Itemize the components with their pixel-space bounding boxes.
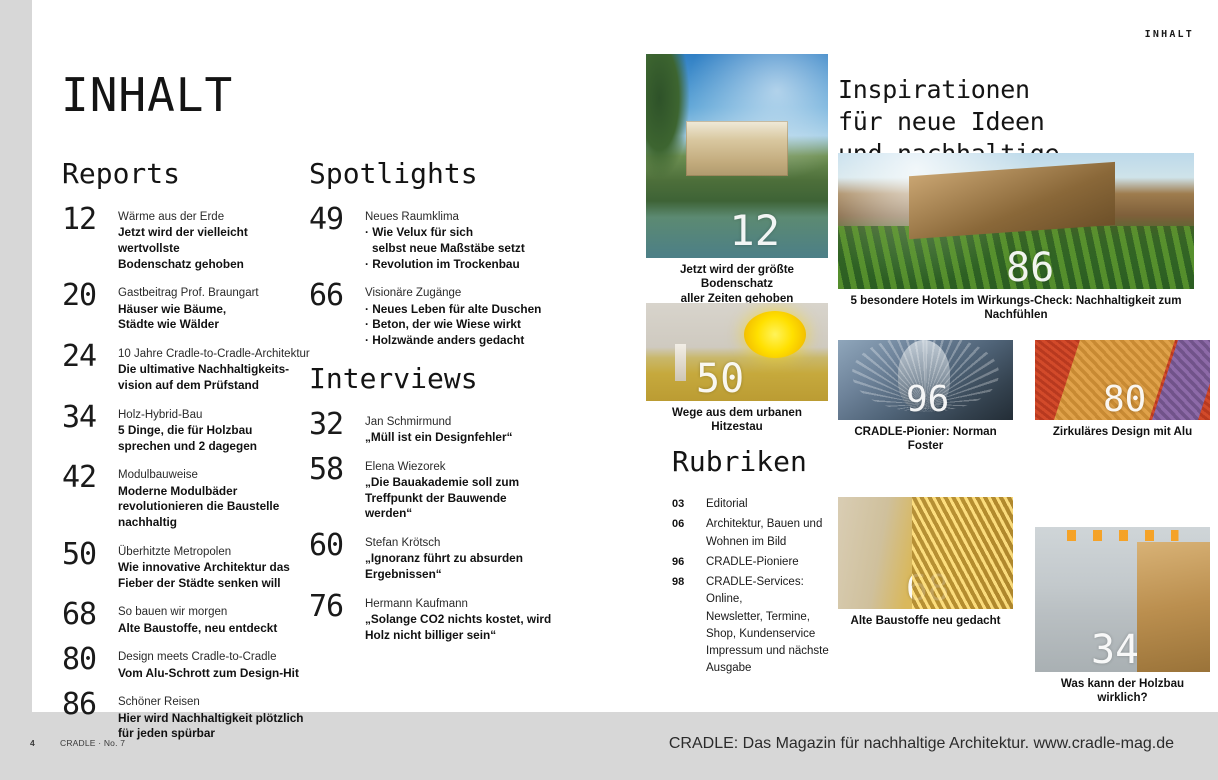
entry-text: Gastbeitrag Prof. BraungartHäuser wie Bä… [118, 286, 312, 333]
spotlights-list: 49Neues Raumklima· Wie Velux für sichsel… [309, 210, 559, 349]
entry-kicker: Neues Raumklima [365, 210, 559, 225]
entry-title-line: „Die Bauakademie soll zum [365, 475, 559, 491]
straw-and-clay-material-photo: 68 [838, 497, 1013, 609]
hero-line: für neue Ideen [838, 106, 1208, 138]
entry-page-number: 49 [309, 206, 365, 235]
reports-list: 12Wärme aus der ErdeJetzt wird der viell… [62, 210, 312, 742]
entry-title: Die ultimative Nachhaltigkeits-vision au… [118, 362, 312, 393]
entry-title-line: Die ultimative Nachhaltigkeits- [118, 362, 312, 378]
entry-title: 5 Dinge, die für Holzbausprechen und 2 d… [118, 423, 312, 454]
entry-page-number: 50 [62, 541, 118, 570]
entry-title-line: für jeden spürbar [118, 726, 312, 742]
entry-title-line: Bodenschatz gehoben [118, 257, 312, 273]
entry-title-line: Holz nicht billiger sein“ [365, 628, 559, 644]
figure-caption: CRADLE-Pionier: Norman Foster [838, 425, 1013, 454]
entry-page-number: 12 [62, 206, 118, 235]
entry-title-line: Hier wird Nachhaltigkeit plötzlich [118, 711, 312, 727]
figure-80[interactable]: 80 Zirkuläres Design mit Alu [1035, 340, 1210, 439]
rubriken-label: CRADLE-Services: Online,Newsletter, Term… [706, 574, 842, 678]
entry-title: Hier wird Nachhaltigkeit plötzlichfür je… [118, 711, 312, 742]
reports-entry[interactable]: 34Holz-Hybrid-Bau5 Dinge, die für Holzba… [62, 408, 312, 455]
rubriken-entry[interactable]: 06Architektur, Bauen undWohnen im Bild [672, 516, 842, 551]
running-head: INHALT [1145, 29, 1194, 40]
entry-page-number: 58 [309, 456, 365, 485]
rubriken-label: Architektur, Bauen undWohnen im Bild [706, 516, 822, 551]
entry-page-number: 66 [309, 282, 365, 311]
colored-aluminium-pattern-photo: 80 [1035, 340, 1210, 420]
figure-pagenum: 96 [906, 382, 949, 418]
entry-title: Häuser wie Bäume,Städte wie Wälder [118, 302, 312, 333]
entry-title-line: nachhaltig [118, 515, 312, 531]
entry-title: Moderne Modulbäderrevolutionieren die Ba… [118, 484, 312, 531]
entry-text: Wärme aus der ErdeJetzt wird der viellei… [118, 210, 312, 272]
rubriken-entry[interactable]: 03Editorial [672, 496, 842, 513]
entry-text: Überhitzte MetropolenWie innovative Arch… [118, 545, 312, 592]
reichstag-glass-dome-photo: 96 [838, 340, 1013, 420]
interviews-entry[interactable]: 76Hermann Kaufmann„Solange CO2 nichts ko… [309, 597, 559, 644]
entry-title-line: · Revolution im Trockenbau [365, 257, 559, 273]
hero-line: Inspirationen [838, 74, 1208, 106]
figure-caption: Alte Baustoffe neu gedacht [838, 614, 1013, 628]
entry-title-line: Städte wie Wälder [118, 317, 312, 333]
figure-caption: 5 besondere Hotels im Wirkungs-Check: Na… [838, 294, 1194, 323]
entry-kicker: So bauen wir morgen [118, 605, 312, 620]
figure-caption: Was kann der Holzbau wirklich? [1035, 677, 1210, 706]
spotlights-column: Spotlights 49Neues Raumklima· Wie Velux … [309, 160, 559, 657]
entry-title: Wie innovative Architektur dasFieber der… [118, 560, 312, 591]
timber-hall-interior-photo: 34 [1035, 527, 1210, 672]
entry-page-number: 76 [309, 593, 365, 622]
entry-text: Visionäre Zugänge· Neues Leben für alte … [365, 286, 559, 348]
entry-title-line: · Neues Leben für alte Duschen [365, 302, 559, 318]
figure-pagenum: 68 [906, 571, 949, 607]
entry-kicker: Holz-Hybrid-Bau [118, 408, 312, 423]
entry-page-number: 24 [62, 343, 118, 372]
entry-text: Stefan Krötsch„Ignoranz führt zu absurde… [365, 536, 559, 583]
section-heading-interviews: Interviews [309, 365, 559, 393]
entry-title: · Wie Velux für sichselbst neue Maßstäbe… [365, 225, 559, 272]
entry-title-line: werden“ [365, 506, 559, 522]
entry-kicker: Überhitzte Metropolen [118, 545, 312, 560]
entry-title-line: Fieber der Städte senken will [118, 576, 312, 592]
rubriken-page-number: 03 [672, 496, 706, 513]
entry-title-line: Treffpunkt der Bauwende [365, 491, 559, 507]
figure-50[interactable]: 50 Wege aus dem urbanen Hitzestau [646, 303, 828, 435]
entry-page-number: 34 [62, 404, 118, 433]
entry-title-line: Vom Alu-Schrott zum Design-Hit [118, 666, 312, 682]
interviews-entry[interactable]: 58Elena Wiezorek„Die Bauakademie soll zu… [309, 460, 559, 522]
entry-title: Jetzt wird der vielleicht wertvollsteBod… [118, 225, 312, 272]
entry-text: Jan Schmirmund„Müll ist ein Designfehler… [365, 415, 559, 446]
entry-page-number: 42 [62, 464, 118, 493]
entry-page-number: 20 [62, 282, 118, 311]
interviews-entry[interactable]: 60Stefan Krötsch„Ignoranz führt zu absur… [309, 536, 559, 583]
reports-entry[interactable]: 2410 Jahre Cradle-to-Cradle-ArchitekturD… [62, 347, 312, 394]
interviews-entry[interactable]: 32Jan Schmirmund„Müll ist ein Designfehl… [309, 415, 559, 446]
rubriken-list: 03Editorial06Architektur, Bauen undWohne… [672, 496, 842, 678]
wooden-eco-hotel-photo: 86 [838, 153, 1194, 289]
rubriken-label: CRADLE-Pioniere [706, 554, 799, 571]
entry-kicker: Stefan Krötsch [365, 536, 559, 551]
entry-title: Alte Baustoffe, neu entdeckt [118, 621, 312, 637]
entry-title-line: sprechen und 2 dagegen [118, 439, 312, 455]
entry-title: Vom Alu-Schrott zum Design-Hit [118, 666, 312, 682]
footer-issue: CRADLE · No. 7 [60, 738, 125, 748]
entry-text: Holz-Hybrid-Bau5 Dinge, die für Holzbaus… [118, 408, 312, 455]
entry-kicker: Hermann Kaufmann [365, 597, 559, 612]
entry-title-line: Ergebnissen“ [365, 567, 559, 583]
interviews-list: 32Jan Schmirmund„Müll ist ein Designfehl… [309, 415, 559, 644]
reports-entry[interactable]: 68So bauen wir morgenAlte Baustoffe, neu… [62, 605, 312, 636]
footer-page-number: 4 [30, 738, 35, 748]
footer-tagline: CRADLE: Das Magazin für nachhaltige Arch… [669, 735, 1174, 753]
entry-title-line: · Beton, der wie Wiese wirkt [365, 317, 559, 333]
entry-kicker: Gastbeitrag Prof. Braungart [118, 286, 312, 301]
yellow-sun-art-installation-photo: 50 [646, 303, 828, 401]
rubriken-column: Rubriken 03Editorial06Architektur, Bauen… [672, 448, 842, 681]
modern-riverside-building-photo: 12 [646, 54, 828, 258]
entry-title: „Müll ist ein Designfehler“ [365, 430, 559, 446]
reports-column: Reports 12Wärme aus der ErdeJetzt wird d… [62, 160, 312, 756]
entry-page-number: 80 [62, 646, 118, 675]
entry-kicker: Wärme aus der Erde [118, 210, 312, 225]
entry-kicker: Jan Schmirmund [365, 415, 559, 430]
entry-text: Schöner ReisenHier wird Nachhaltigkeit p… [118, 695, 312, 742]
entry-title-line: Moderne Modulbäder [118, 484, 312, 500]
spotlights-entry[interactable]: 49Neues Raumklima· Wie Velux für sichsel… [309, 210, 559, 272]
entry-text: Hermann Kaufmann„Solange CO2 nichts kost… [365, 597, 559, 644]
figure-68[interactable]: 68 Alte Baustoffe neu gedacht [838, 497, 1013, 628]
figure-34[interactable]: 34 Was kann der Holzbau wirklich? [1035, 527, 1210, 706]
reports-entry[interactable]: 86Schöner ReisenHier wird Nachhaltigkeit… [62, 695, 312, 742]
entry-title-line: Jetzt wird der vielleicht wertvollste [118, 225, 312, 256]
entry-page-number: 68 [62, 601, 118, 630]
entry-title-line: revolutionieren die Baustelle [118, 499, 312, 515]
entry-kicker: Visionäre Zugänge [365, 286, 559, 301]
entry-title-line: Wie innovative Architektur das [118, 560, 312, 576]
entry-text: Neues Raumklima· Wie Velux für sichselbs… [365, 210, 559, 272]
magazine-page: INHALT INHALT Reports 12Wärme aus der Er… [32, 0, 1218, 712]
rubriken-entry[interactable]: 96CRADLE-Pioniere [672, 554, 842, 571]
entry-title-line: „Ignoranz führt zu absurden [365, 551, 559, 567]
entry-text: Elena Wiezorek„Die Bauakademie soll zumT… [365, 460, 559, 522]
figure-pagenum: 34 [1091, 630, 1139, 670]
figure-pagenum: 50 [696, 359, 744, 399]
entry-text: So bauen wir morgenAlte Baustoffe, neu e… [118, 605, 312, 636]
figure-caption: Zirkuläres Design mit Alu [1035, 425, 1210, 439]
entry-title-line: · Wie Velux für sich [365, 225, 559, 241]
reports-entry[interactable]: 80Design meets Cradle-to-CradleVom Alu-S… [62, 650, 312, 681]
entry-page-number: 32 [309, 411, 365, 440]
reports-entry[interactable]: 50Überhitzte MetropolenWie innovative Ar… [62, 545, 312, 592]
entry-kicker: Design meets Cradle-to-Cradle [118, 650, 312, 665]
figure-pagenum: 12 [729, 210, 780, 252]
spotlights-entry[interactable]: 66Visionäre Zugänge· Neues Leben für alt… [309, 286, 559, 348]
entry-text: 10 Jahre Cradle-to-Cradle-ArchitekturDie… [118, 347, 312, 394]
section-heading-reports: Reports [62, 160, 312, 188]
reports-entry[interactable]: 42ModulbauweiseModerne Modulbäderrevolut… [62, 468, 312, 530]
entry-title-line: Alte Baustoffe, neu entdeckt [118, 621, 312, 637]
entry-kicker: Schöner Reisen [118, 695, 312, 710]
figure-96[interactable]: 96 CRADLE-Pionier: Norman Foster [838, 340, 1013, 454]
entry-text: Design meets Cradle-to-CradleVom Alu-Sch… [118, 650, 312, 681]
rubriken-page-number: 96 [672, 554, 706, 571]
entry-title-line: vision auf dem Prüfstand [118, 378, 312, 394]
entry-title: „Solange CO2 nichts kostet, wirdHolz nic… [365, 612, 559, 643]
figure-86[interactable]: 86 5 besondere Hotels im Wirkungs-Check:… [838, 153, 1194, 323]
entry-title-line: „Solange CO2 nichts kostet, wird [365, 612, 559, 628]
entry-kicker: Elena Wiezorek [365, 460, 559, 475]
entry-title: „Ignoranz führt zu absurdenErgebnissen“ [365, 551, 559, 582]
entry-page-number: 86 [62, 691, 118, 720]
figure-caption: Wege aus dem urbanen Hitzestau [646, 406, 828, 435]
rubriken-label: Editorial [706, 496, 748, 513]
rubriken-page-number: 06 [672, 516, 706, 551]
entry-title-line: 5 Dinge, die für Holzbau [118, 423, 312, 439]
page-title: INHALT [61, 72, 233, 118]
entry-kicker: 10 Jahre Cradle-to-Cradle-Architektur [118, 347, 312, 362]
figure-pagenum: 86 [1006, 248, 1054, 288]
section-heading-spotlights: Spotlights [309, 160, 559, 188]
entry-title-line: Häuser wie Bäume, [118, 302, 312, 318]
entry-text: ModulbauweiseModerne Modulbäderrevolutio… [118, 468, 312, 530]
entry-title-line: selbst neue Maßstäbe setzt [365, 241, 559, 257]
figure-12[interactable]: 12 Jetzt wird der größte Bodenschatz all… [646, 54, 828, 306]
entry-title: · Neues Leben für alte Duschen· Beton, d… [365, 302, 559, 349]
entry-page-number: 60 [309, 532, 365, 561]
entry-title: „Die Bauakademie soll zumTreffpunkt der … [365, 475, 559, 522]
reports-entry[interactable]: 12Wärme aus der ErdeJetzt wird der viell… [62, 210, 312, 272]
rubriken-page-number: 98 [672, 574, 706, 678]
entry-title-line: · Holzwände anders gedacht [365, 333, 559, 349]
reports-entry[interactable]: 20Gastbeitrag Prof. BraungartHäuser wie … [62, 286, 312, 333]
entry-kicker: Modulbauweise [118, 468, 312, 483]
figure-caption: Jetzt wird der größte Bodenschatz aller … [646, 263, 828, 306]
figure-pagenum: 80 [1103, 382, 1146, 418]
rubriken-entry[interactable]: 98CRADLE-Services: Online,Newsletter, Te… [672, 574, 842, 678]
section-heading-rubriken: Rubriken [672, 448, 842, 476]
entry-title-line: „Müll ist ein Designfehler“ [365, 430, 559, 446]
